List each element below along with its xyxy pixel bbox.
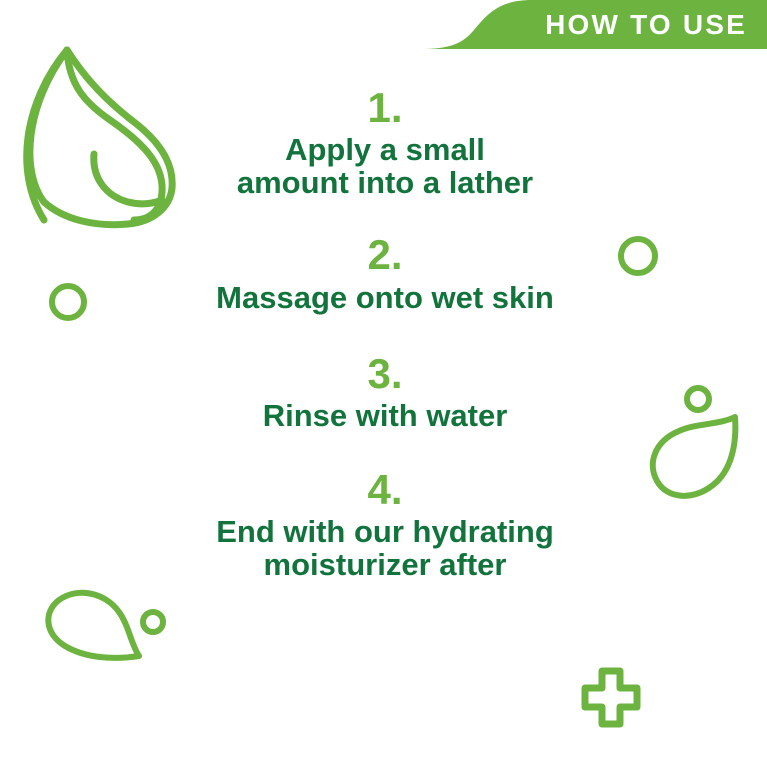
step-item-1: 1. Apply a small amount into a lather [150,86,620,199]
cross-bottom-icon [578,666,644,730]
step-number-1: 1. [150,86,620,130]
step-item-3: 3. Rinse with water [150,352,620,432]
step-text-3: Rinse with water [150,399,620,432]
step-number-3: 3. [150,352,620,396]
step-text-1: Apply a small amount into a lather [150,133,620,199]
how-to-use-poster: HOW TO USE 1. Apply a small amount into … [0,0,767,767]
header-banner [392,0,767,49]
leaf-right-icon [645,383,760,503]
step-number-2: 2. [150,233,620,277]
step-item-4: 4. End with our hydrating moisturizer af… [150,468,620,581]
step-text-2: Massage onto wet skin [150,281,620,314]
step-item-2: 2. Massage onto wet skin [150,233,620,313]
steps-list: 1. Apply a small amount into a lather 2.… [150,86,620,581]
step-text-4: End with our hydrating moisturizer after [150,515,620,581]
circle-left-icon [44,278,92,326]
step-number-4: 4. [150,468,620,512]
leaf-bottom-left-icon [35,588,165,673]
